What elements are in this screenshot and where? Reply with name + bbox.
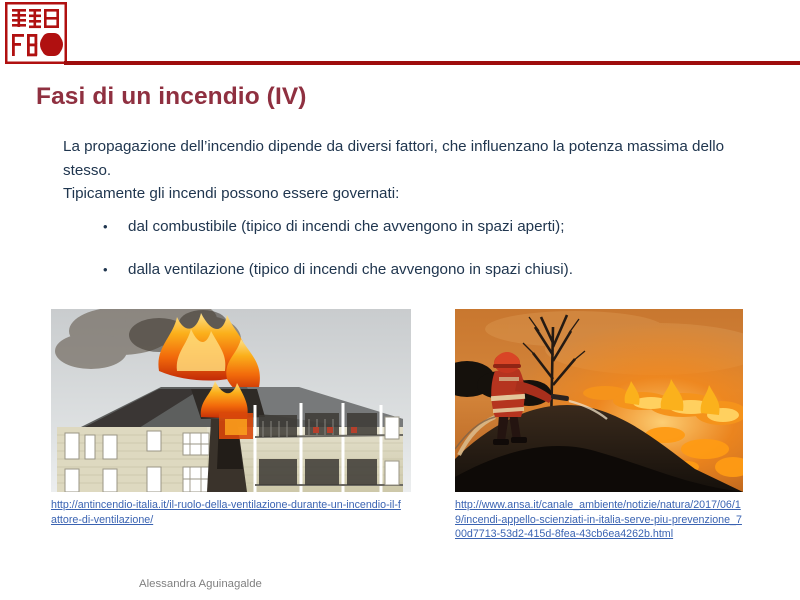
body-paragraph-2: Tipicamente gli incendi possono essere g…	[63, 182, 763, 206]
bullet-list: • dal combustibile (tipico di incendi ch…	[100, 216, 760, 302]
body-copy: La propagazione dell’incendio dipende da…	[63, 135, 763, 206]
figure-caption-link[interactable]: http://www.ansa.it/canale_ambiente/notiz…	[455, 498, 745, 542]
bullet-dot-icon: •	[100, 259, 128, 280]
firefighter-wildfire-photo	[455, 309, 743, 492]
figure-caption-link[interactable]: http://antincendio-italia.it/il-ruolo-de…	[51, 498, 403, 527]
footer-author: Alessandra Aguinagalde	[139, 578, 262, 590]
bullet-dot-icon: •	[100, 216, 128, 237]
list-item: • dal combustibile (tipico di incendi ch…	[100, 216, 760, 237]
list-item-label: dal combustibile (tipico di incendi che …	[128, 216, 564, 237]
figure-firefighter-wildfire: http://www.ansa.it/canale_ambiente/notiz…	[455, 309, 745, 542]
red-seal-stamp-logo	[5, 2, 67, 64]
burning-apartment-building-photo	[51, 309, 411, 492]
body-paragraph-1: La propagazione dell’incendio dipende da…	[63, 135, 763, 182]
presentation-slide: Fasi di un incendio (IV) La propagazione…	[0, 0, 800, 600]
figure-burning-building: http://antincendio-italia.it/il-ruolo-de…	[51, 309, 411, 527]
list-item-label: dalla ventilazione (tipico di incendi ch…	[128, 259, 573, 280]
header-divider-rule	[64, 61, 800, 65]
page-title: Fasi di un incendio (IV)	[36, 83, 307, 111]
list-item: • dalla ventilazione (tipico di incendi …	[100, 259, 760, 280]
